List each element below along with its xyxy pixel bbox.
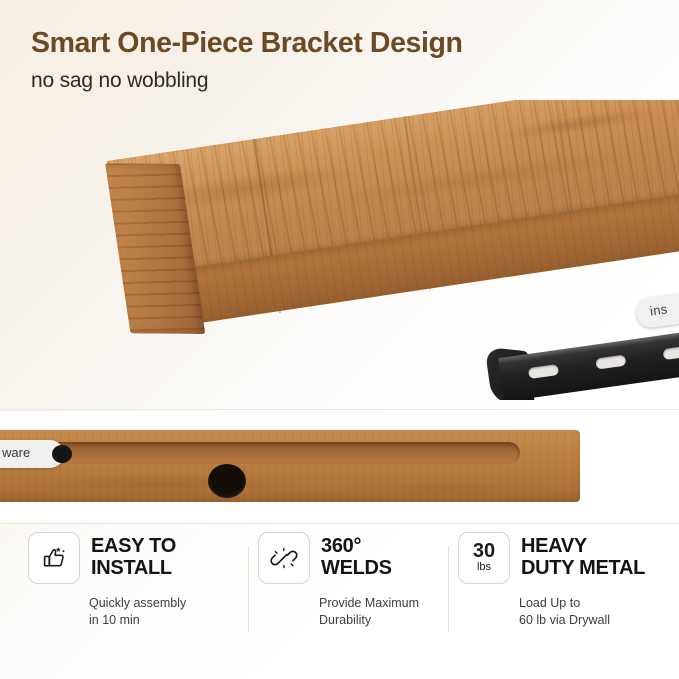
page-title: Smart One-Piece Bracket Design (31, 28, 631, 59)
hero-image-bottom (0, 412, 679, 520)
product-label-top-text: ins (649, 301, 668, 318)
feature-description: Quickly assembly in 10 min (89, 595, 248, 629)
wood-shelf-bottom (0, 430, 580, 502)
weld-link-icon (258, 532, 310, 584)
feature-heavy-duty-metal: 30 lbs HEAVY DUTY METAL Load Up to 60 lb… (448, 532, 679, 652)
bracket-plate (498, 326, 679, 400)
product-label-top: ins (634, 289, 679, 330)
bracket-pin (52, 445, 72, 463)
bracket-channel-groove (20, 442, 520, 464)
feature-description: Provide Maximum Durability (319, 595, 448, 629)
feature-header: EASY TO INSTALL (28, 532, 248, 584)
feature-title: EASY TO INSTALL (91, 536, 176, 579)
divider-top (0, 409, 679, 410)
wood-grain-overlay (0, 430, 580, 502)
feature-360-welds: 360° WELDS Provide Maximum Durability (248, 532, 448, 652)
product-label-bottom-text: ware (2, 445, 30, 460)
feature-title: 360° WELDS (321, 536, 392, 579)
feature-row: EASY TO INSTALL Quickly assembly in 10 m… (0, 532, 679, 652)
feature-title: HEAVY DUTY METAL (521, 536, 645, 579)
weight-badge-icon: 30 lbs (458, 532, 510, 584)
page-subtitle: no sag no wobbling (31, 69, 631, 92)
headline-block: Smart One-Piece Bracket Design no sag no… (31, 28, 631, 92)
cable-hole (208, 464, 246, 498)
feature-header: 360° WELDS (258, 532, 448, 584)
weight-badge-number: 30 (473, 541, 495, 561)
weight-badge-unit: lbs (477, 561, 491, 574)
feature-separator (248, 546, 249, 632)
feature-easy-to-install: EASY TO INSTALL Quickly assembly in 10 m… (0, 532, 248, 652)
feature-header: 30 lbs HEAVY DUTY METAL (458, 532, 679, 584)
feature-description: Load Up to 60 lb via Drywall (519, 595, 679, 629)
wood-shelf-top (107, 100, 679, 339)
product-infographic: Smart One-Piece Bracket Design no sag no… (0, 0, 679, 679)
steel-bracket (497, 316, 679, 400)
thumbs-up-icon (28, 532, 80, 584)
feature-separator (448, 546, 449, 632)
divider-bottom (0, 523, 679, 524)
hero-image-top: ins (0, 100, 679, 400)
